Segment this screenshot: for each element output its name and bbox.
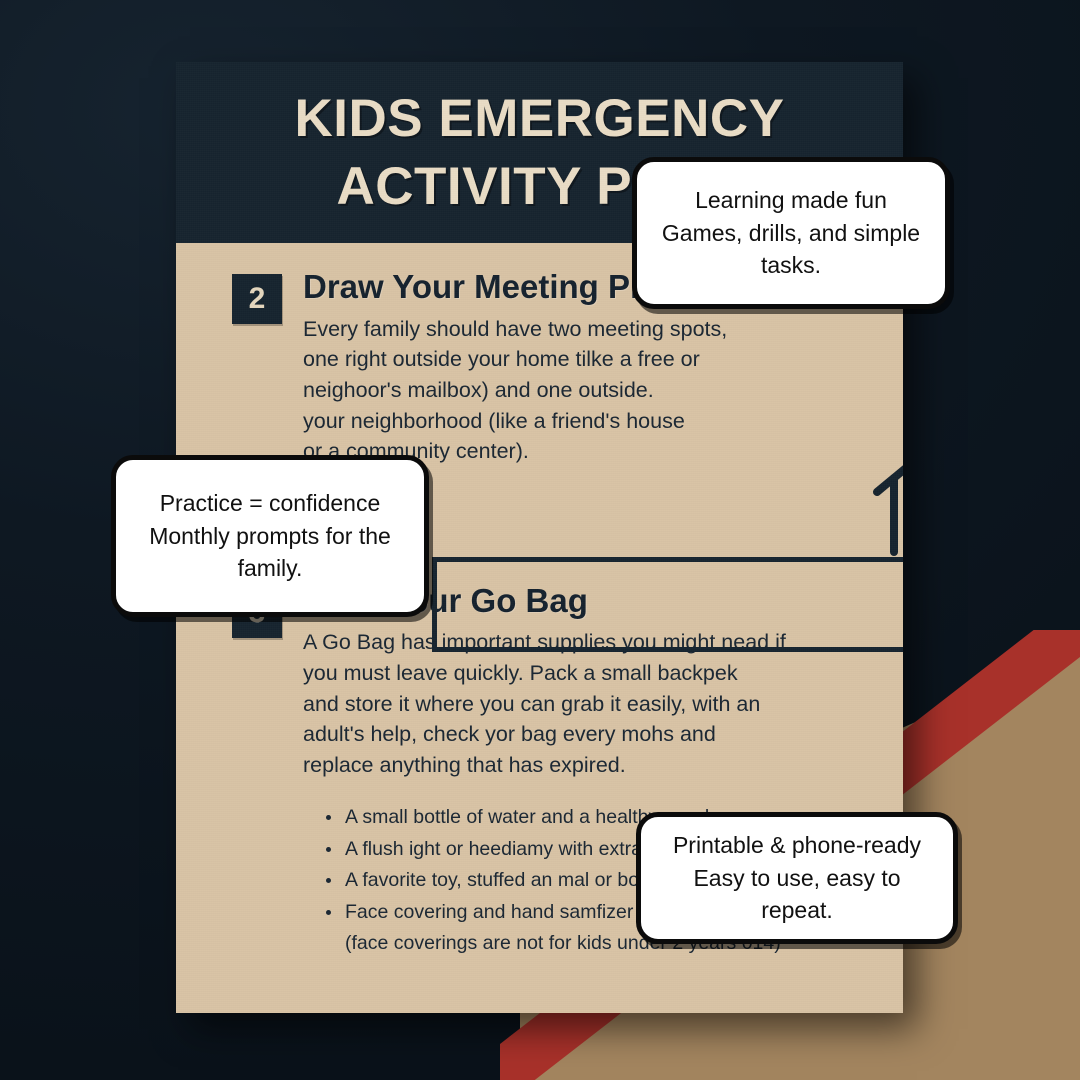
paragraph-line: your neighborhood (like a friend's house: [303, 406, 869, 437]
step-paragraph-2: Every family should have two meeting spo…: [303, 314, 869, 467]
callout-text-group: Learning made fun Games, drills, and sim…: [662, 184, 920, 282]
callout-line: tasks.: [662, 249, 920, 282]
paragraph-line: replace anything that has expired.: [303, 750, 869, 781]
callout-line: Monthly prompts for the: [149, 520, 391, 553]
paragraph-line: adult's help, check yor bag every mohs a…: [303, 719, 869, 750]
screenshot-canvas: KIDS EMERGENCY ACTIVITY PLAN 2 Draw Your…: [0, 0, 1080, 1080]
paragraph-line: Every family should have two meeting spo…: [303, 314, 869, 345]
poster-title-line-1: KIDS EMERGENCY: [295, 85, 785, 153]
paragraph-line: neighoor's mailbox) and one outside.: [303, 375, 869, 406]
step-number-badge-2: 2: [232, 274, 282, 324]
callout-line: Practice = confidence: [149, 487, 391, 520]
callout-text-group: Printable & phone-ready Easy to use, eas…: [657, 829, 937, 927]
callout-bubble-printable-phone-ready[interactable]: Printable & phone-ready Easy to use, eas…: [636, 812, 958, 944]
callout-line: Games, drills, and simple: [662, 217, 920, 250]
callout-line: Easy to use, easy to repeat.: [657, 862, 937, 927]
callout-bubble-practice-confidence[interactable]: Practice = confidence Monthly prompts fo…: [111, 455, 429, 617]
drawing-area-box[interactable]: [432, 557, 903, 652]
callout-line: Printable & phone-ready: [657, 829, 937, 862]
callout-text-group: Practice = confidence Monthly prompts fo…: [149, 487, 391, 585]
callout-line: family.: [149, 552, 391, 585]
paragraph-line: and store it where you can grab it easil…: [303, 689, 869, 720]
callout-bubble-learning-made-fun[interactable]: Learning made fun Games, drills, and sim…: [632, 157, 950, 309]
house-icon: [872, 430, 903, 560]
paragraph-line: one right outside your home tilke a free…: [303, 344, 869, 375]
paragraph-line: you must leave quickly. Pack a small bac…: [303, 658, 869, 689]
callout-line: Learning made fun: [662, 184, 920, 217]
